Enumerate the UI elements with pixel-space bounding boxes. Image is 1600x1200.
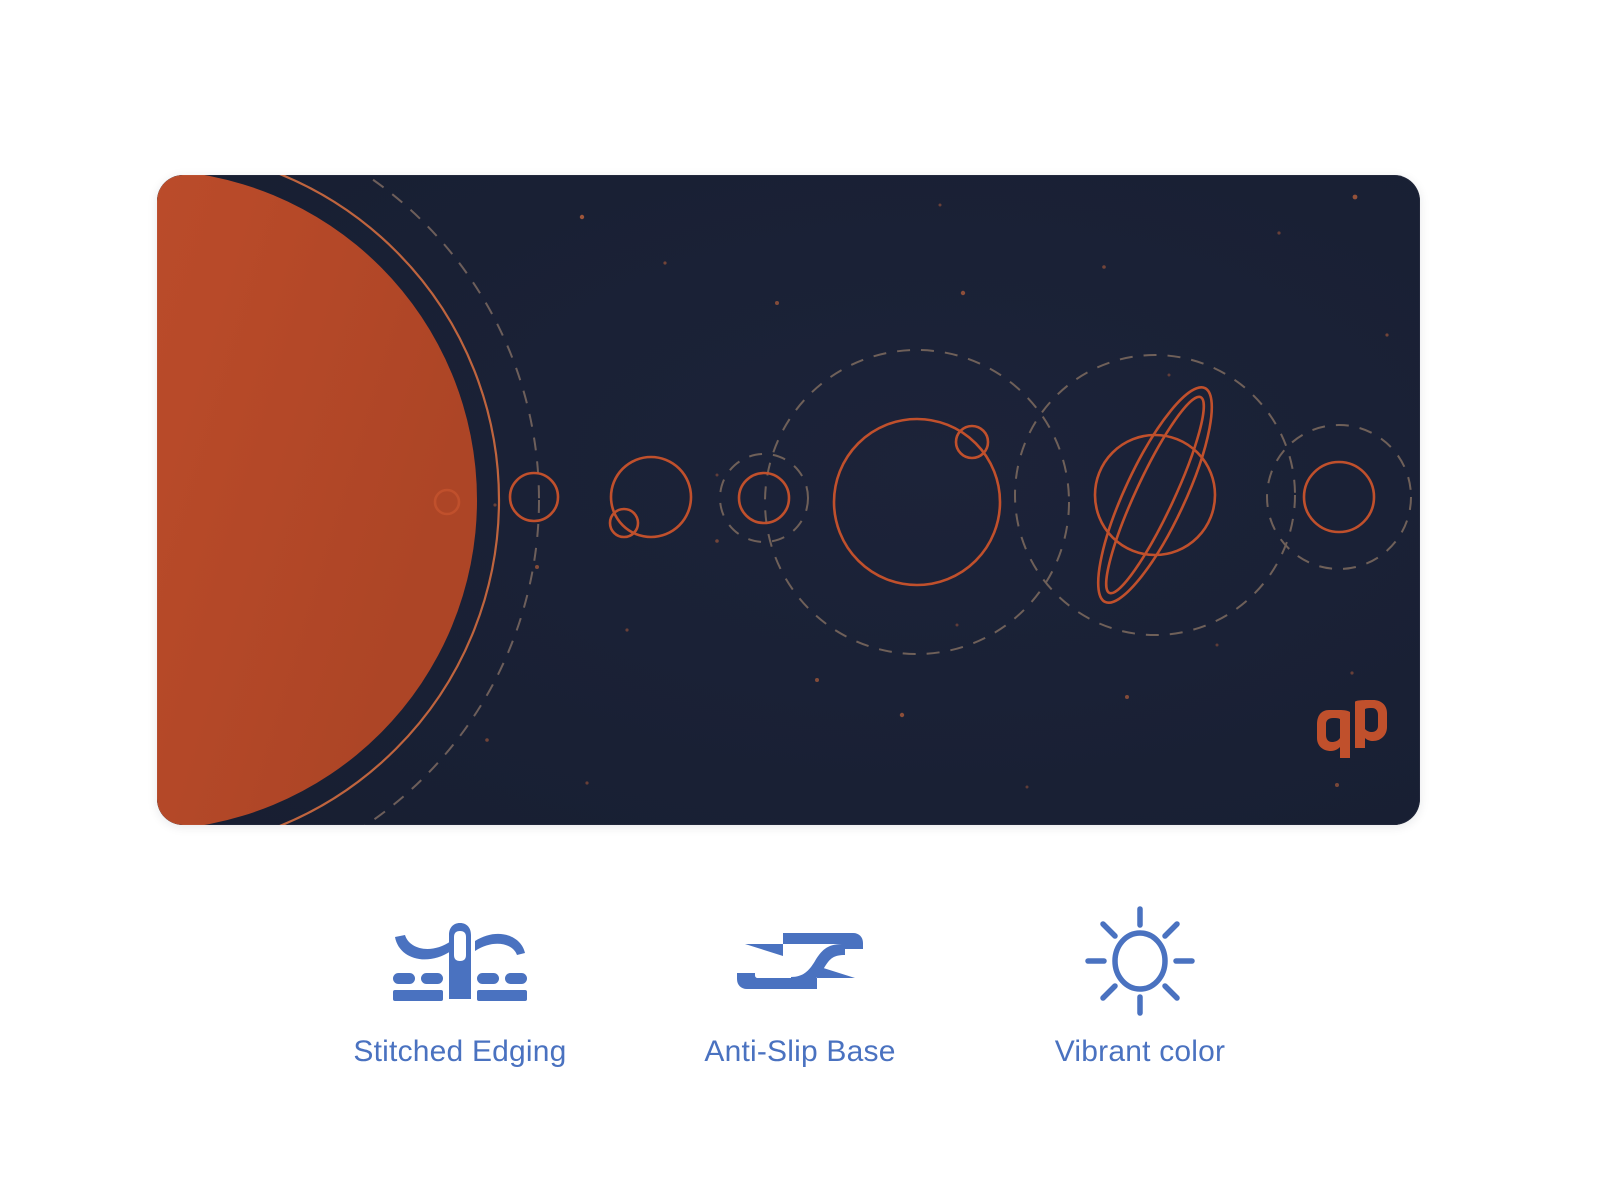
feature-anti-slip-base: Anti-Slip Base	[640, 915, 960, 1069]
feature-stitched-edging: Stitched Edging	[300, 915, 620, 1069]
anti-slip-arrows-icon	[735, 915, 865, 1007]
feature-label-vibrant-color: Vibrant color	[1055, 1035, 1225, 1069]
feature-label-anti-slip-base: Anti-Slip Base	[704, 1035, 895, 1069]
sun-icon	[1080, 915, 1200, 1007]
feature-vibrant-color: Vibrant color	[980, 915, 1300, 1069]
sewing-needle-icon	[385, 915, 535, 1007]
desk-mat	[157, 175, 1420, 825]
feature-label-stitched-edging: Stitched Edging	[353, 1035, 566, 1069]
desk-mat-surface	[157, 175, 1420, 825]
product-showcase: Stitched Edging Anti-Slip Base	[0, 0, 1600, 1200]
feature-list: Stitched Edging Anti-Slip Base	[300, 915, 1300, 1115]
solar-system-artwork	[157, 175, 1420, 825]
